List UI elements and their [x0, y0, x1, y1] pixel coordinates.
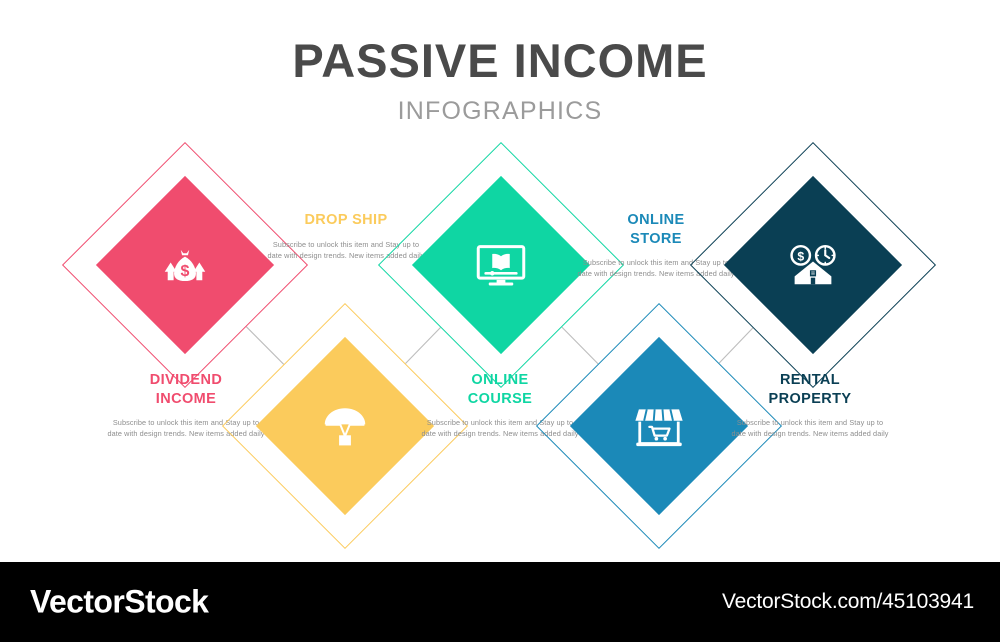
svg-text:$: $ [797, 250, 804, 264]
label-title-dividend-income: DIVIDENDINCOME [106, 371, 266, 408]
label-block-rental-property: RENTALPROPERTYSubscribe to unlock this i… [730, 371, 890, 440]
header: PASSIVE INCOME INFOGRAPHICS [0, 36, 1000, 126]
vectorstock-url: VectorStock.com/45103941 [722, 590, 974, 614]
vectorstock-logo: VectorStock [30, 584, 208, 621]
footer-bar: VectorStock VectorStock.com/45103941 [0, 562, 1000, 642]
label-title-drop-ship: DROP SHIP [266, 211, 426, 230]
infographic-canvas: PASSIVE INCOME INFOGRAPHICS $ DIVIDENDIN… [0, 0, 1000, 642]
label-title-rental-property: RENTALPROPERTY [730, 371, 890, 408]
svg-text:$: $ [181, 262, 190, 280]
diamond-node-rental-property[interactable]: $ [718, 170, 908, 360]
page-subtitle: INFOGRAPHICS [0, 97, 1000, 126]
label-title-online-course: ONLINECOURSE [420, 371, 580, 408]
page-title: PASSIVE INCOME [0, 36, 1000, 85]
label-description-rental-property: Subscribe to unlock this item and Stay u… [730, 417, 890, 440]
house-coin-clock-icon: $ [718, 170, 908, 360]
